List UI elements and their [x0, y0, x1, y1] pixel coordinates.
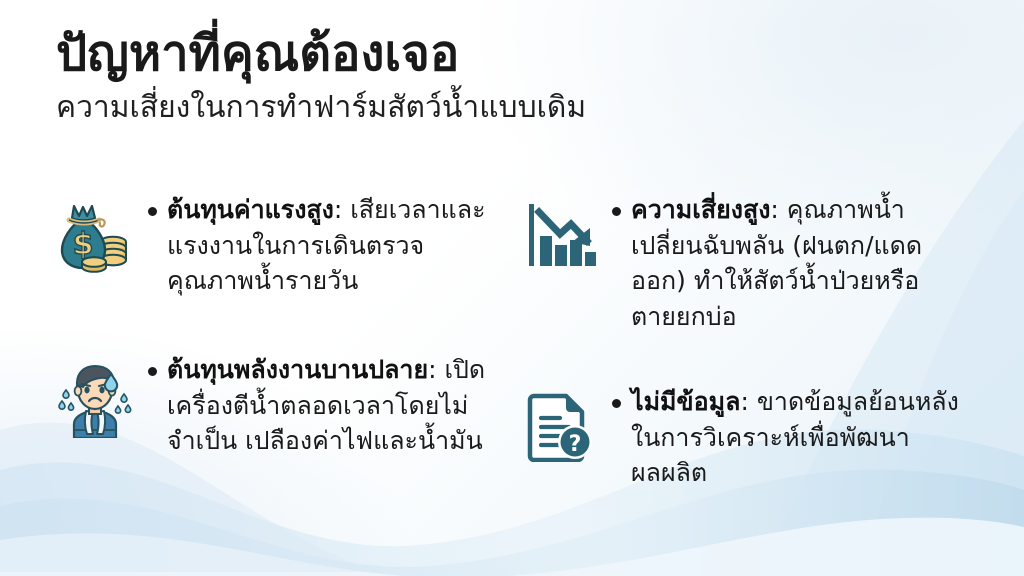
bullet-dot: [148, 207, 157, 216]
bullet-item-energy-cost: ต้นทุนพลังงานบานปลาย: เปิดเครื่องตีน้ำตล…: [56, 352, 536, 459]
bullet-separator: :: [334, 195, 350, 224]
bullet-text-high-risk: ความเสี่ยงสูง: คุณภาพน้ำเปลี่ยนฉับพลัน (…: [631, 192, 964, 334]
money-bag-icon: $: [56, 196, 134, 274]
page-subtitle: ความเสี่ยงในการทำฟาร์มสัตว์น้ำแบบเดิม: [56, 88, 816, 127]
bullet-lead: ความเสี่ยงสูง: [631, 195, 770, 224]
bullet-lead: ต้นทุนพลังงานบานปลาย: [167, 355, 428, 384]
bullet-separator: :: [740, 387, 756, 416]
bullet-lead: ไม่มีข้อมูล: [631, 387, 740, 416]
bullet-dot: [148, 367, 157, 376]
page-title: ปัญหาที่คุณต้องเจอ: [56, 24, 816, 84]
title-block: ปัญหาที่คุณต้องเจอ ความเสี่ยงในการทำฟาร์…: [56, 24, 816, 127]
bullet-body-labor-cost: ต้นทุนค่าแรงสูง: เสียเวลาและแรงงานในการเ…: [148, 192, 500, 299]
bullet-body-energy-cost: ต้นทุนพลังงานบานปลาย: เปิดเครื่องตีน้ำตล…: [148, 352, 500, 459]
bullet-lead: ต้นทุนค่าแรงสูง: [167, 195, 334, 224]
bullet-text-labor-cost: ต้นทุนค่าแรงสูง: เสียเวลาและแรงงานในการเ…: [167, 192, 500, 299]
bullet-dot: [612, 207, 621, 216]
declining-chart-icon: [524, 198, 596, 270]
bullet-item-no-data: ? ไม่มีข้อมูล: ขาดข้อมูลย้อนหลังในการวิเ…: [524, 384, 994, 491]
bullet-separator: :: [428, 355, 444, 384]
bullet-dot: [612, 399, 621, 408]
bullet-separator: :: [770, 195, 786, 224]
bullet-text-energy-cost: ต้นทุนพลังงานบานปลาย: เปิดเครื่องตีน้ำตล…: [167, 352, 500, 459]
stressed-person-icon: [56, 360, 134, 438]
document-question-icon: ?: [524, 390, 596, 462]
svg-text:?: ?: [569, 432, 582, 457]
bullet-item-high-risk: ความเสี่ยงสูง: คุณภาพน้ำเปลี่ยนฉับพลัน (…: [524, 192, 994, 334]
slide-canvas: ปัญหาที่คุณต้องเจอ ความเสี่ยงในการทำฟาร์…: [0, 0, 1024, 576]
bullet-body-high-risk: ความเสี่ยงสูง: คุณภาพน้ำเปลี่ยนฉับพลัน (…: [612, 192, 964, 334]
bullet-item-labor-cost: $ ต้นทุนค่าแรงสูง: เสียเวลาและแรงงานในกา…: [56, 192, 526, 299]
bullet-body-no-data: ไม่มีข้อมูล: ขาดข้อมูลย้อนหลังในการวิเคร…: [612, 384, 964, 491]
bullet-text-no-data: ไม่มีข้อมูล: ขาดข้อมูลย้อนหลังในการวิเคร…: [631, 384, 964, 491]
